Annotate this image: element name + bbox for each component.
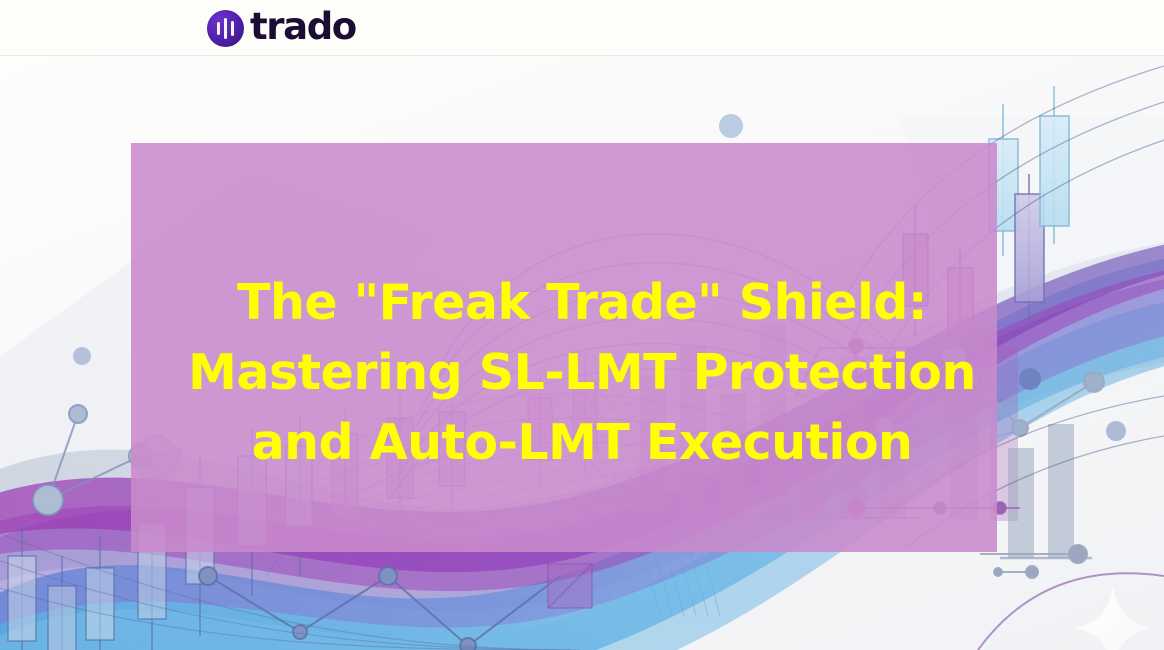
page-title: The "Freak Trade" Shield: Mastering SL-L… xyxy=(0,268,1164,478)
page-title-line-2: Mastering SL-LMT Protection xyxy=(0,338,1164,408)
page-title-line-3: and Auto-LMT Execution xyxy=(0,408,1164,478)
brand-logo[interactable]: trado xyxy=(207,5,356,51)
site-header: trado xyxy=(0,0,1164,56)
trado-blog-hero-page: trado xyxy=(0,0,1164,650)
swirl-curve-bottom-right xyxy=(978,573,1164,650)
page-title-line-1: The "Freak Trade" Shield: xyxy=(0,268,1164,338)
trado-candlestick-circle-icon xyxy=(207,10,244,47)
brand-wordmark: trado xyxy=(250,8,356,48)
sparkle-icon xyxy=(1076,586,1150,650)
